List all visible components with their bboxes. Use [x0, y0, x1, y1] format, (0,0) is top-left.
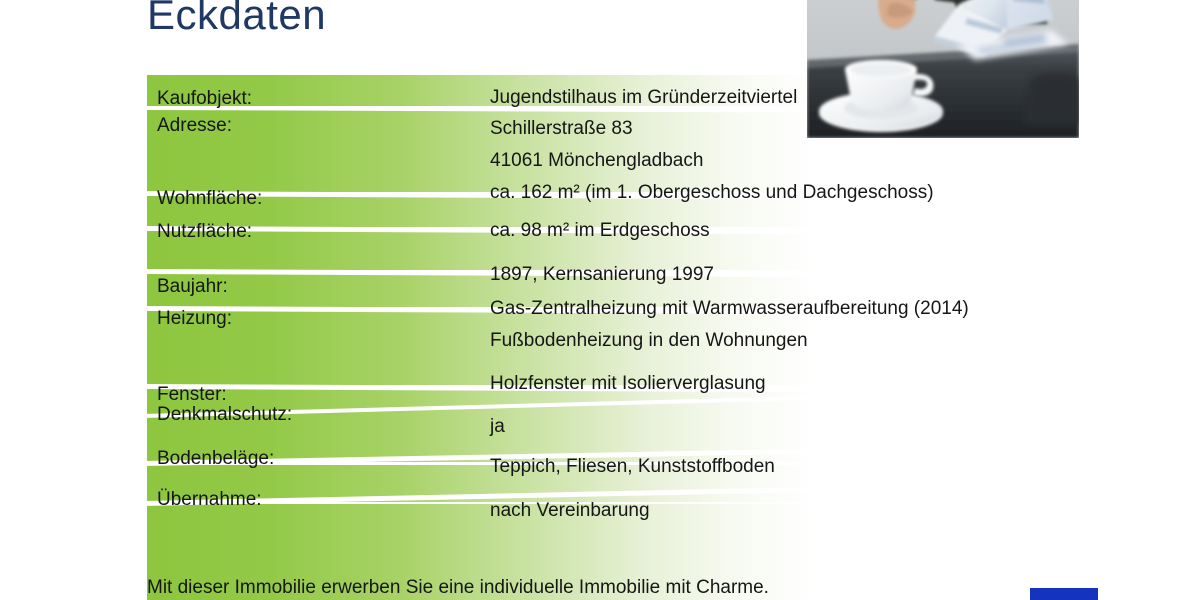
row-value-fenster: Holzfenster mit Isolierverglasung	[490, 374, 766, 393]
hero-photo	[807, 0, 1079, 138]
green-band-stack: Kaufobjekt: Adresse: Wohnfläche: Nutzflä…	[147, 75, 815, 600]
row-value-baujahr: 1897, Kernsanierung 1997	[490, 265, 714, 284]
row-label-adresse: Adresse:	[157, 116, 232, 135]
row-value-adresse-line2: 41061 Mönchengladbach	[490, 151, 703, 170]
blue-accent-bar	[1030, 588, 1098, 600]
row-label-denkmalschutz: Denkmalschutz:	[157, 405, 292, 424]
row-label-heizung: Heizung:	[157, 309, 232, 328]
row-value-adresse-line1: Schillerstraße 83	[490, 119, 633, 138]
band-adresse	[147, 109, 815, 192]
page-title: Eckdaten	[147, 0, 326, 40]
row-label-baujahr: Baujahr:	[157, 277, 228, 296]
row-label-uebernahme: Übernahme:	[157, 490, 262, 509]
row-value-wohnflaeche: ca. 162 m² (im 1. Obergeschoss und Dachg…	[490, 183, 934, 202]
row-label-kaufobjekt: Kaufobjekt:	[157, 89, 252, 108]
row-value-denkmalschutz: ja	[490, 417, 505, 436]
row-label-wohnflaeche: Wohnfläche:	[157, 189, 262, 208]
footer-sentence: Mit dieser Immobilie erwerben Sie eine i…	[147, 578, 769, 597]
row-value-nutzflaeche: ca. 98 m² im Erdgeschoss	[490, 221, 710, 240]
row-value-heizung-line2: Fußbodenheizung in den Wohnungen	[490, 331, 808, 350]
row-value-heizung-line1: Gas-Zentralheizung mit Warmwasseraufbere…	[490, 299, 969, 318]
row-value-uebernahme: nach Vereinbarung	[490, 501, 650, 520]
row-label-nutzflaeche: Nutzfläche:	[157, 222, 252, 241]
row-value-kaufobjekt: Jugendstilhaus im Gründerzeitviertel	[490, 88, 797, 107]
row-value-bodenbelaege: Teppich, Fliesen, Kunststoffboden	[490, 457, 775, 476]
row-label-fenster: Fenster:	[157, 385, 227, 404]
slide-canvas: Eckdaten Kaufobjekt: Adresse: Wohnfläche…	[0, 0, 1200, 600]
photo-illustration	[807, 0, 1079, 138]
row-label-bodenbelaege: Bodenbeläge:	[157, 449, 274, 468]
